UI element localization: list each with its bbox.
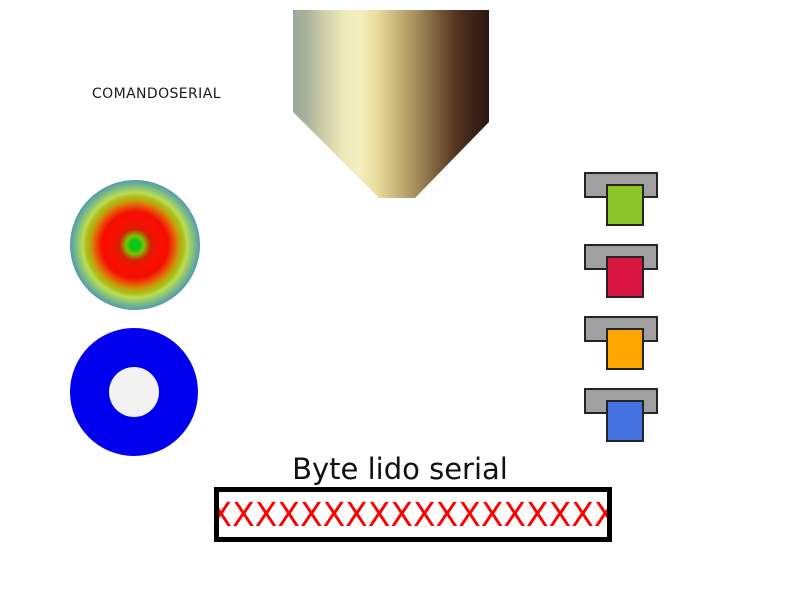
indicator-red-cap[interactable] (606, 256, 644, 298)
application-canvas: COMANDOSERIAL (0, 0, 800, 600)
ring-hole (109, 367, 159, 417)
blue-ring-indicator (70, 328, 198, 456)
indicator-blue[interactable] (584, 388, 662, 442)
comandoserial-label: COMANDOSERIAL (92, 86, 221, 102)
serial-byte-field[interactable]: XXXXXXXXXXXXXXXXXX (214, 487, 612, 542)
indicator-green[interactable] (584, 172, 662, 226)
indicator-green-cap[interactable] (606, 184, 644, 226)
indicator-orange[interactable] (584, 316, 662, 370)
indicator-blue-cap[interactable] (606, 400, 644, 442)
indicator-red[interactable] (584, 244, 662, 298)
radial-gradient-lamp (70, 180, 200, 310)
indicator-orange-cap[interactable] (606, 328, 644, 370)
gradient-shield-shape (293, 10, 489, 198)
byte-lido-serial-label: Byte lido serial (0, 452, 800, 486)
indicator-button-stack (584, 172, 670, 432)
serial-byte-value: XXXXXXXXXXXXXXXXXX (214, 495, 612, 534)
